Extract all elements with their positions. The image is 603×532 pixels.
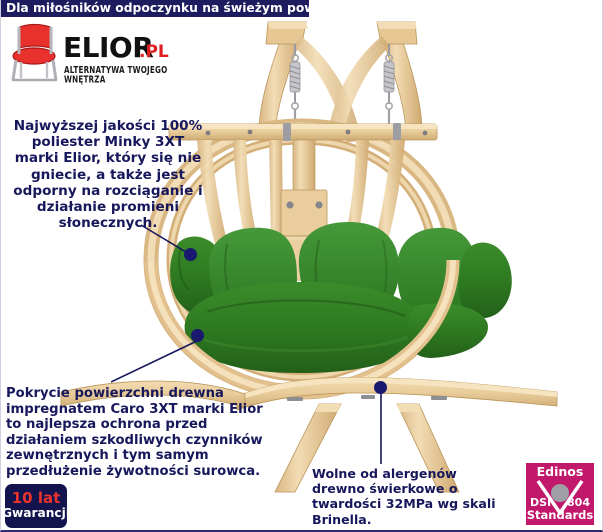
edinos-right-code: 804 (567, 497, 590, 508)
callout-wood-hardness: Wolne od alergenów drewno świerkowe o tw… (312, 466, 512, 527)
frame-crossbar (169, 123, 437, 141)
warranty-years: 10 lat (12, 491, 61, 507)
callout-leader-line-2 (111, 336, 203, 388)
warranty-label: Gwarancji (2, 507, 70, 520)
green-cushions (170, 222, 512, 373)
red-chair-icon (7, 20, 61, 84)
callout-dot-2 (191, 329, 204, 342)
logo-domain: .PL (139, 44, 169, 61)
product-infographic: Dla miłośników odpoczynku na świeżym pow… (0, 0, 603, 532)
edinos-standards-label: Standards (526, 510, 594, 522)
edinos-left-code: DSI (530, 497, 551, 508)
callout-dot-1 (184, 248, 197, 261)
header-banner: Dla miłośników odpoczynku na świeżym pow… (1, 0, 309, 17)
elior-logo[interactable]: ELIOR .PL ALTERNATYWA TWOJEGO WNĘTRZA (7, 20, 187, 92)
logo-tagline: ALTERNATYWA TWOJEGO WNĘTRZA (64, 65, 187, 84)
callout-wood-impregnation: Pokrycie powierzchni drewna impregnatem … (6, 386, 264, 480)
edinos-name: Edinos (526, 466, 594, 479)
banner-text: Dla miłośników odpoczynku na świeżym pow… (6, 2, 356, 14)
callout-leader-line-3 (377, 386, 385, 466)
warranty-badge: 10 lat Gwarancji (5, 484, 67, 528)
callout-dot-3 (374, 381, 387, 394)
edinos-standards-badge: Edinos DSI 804 Standards (526, 463, 594, 525)
